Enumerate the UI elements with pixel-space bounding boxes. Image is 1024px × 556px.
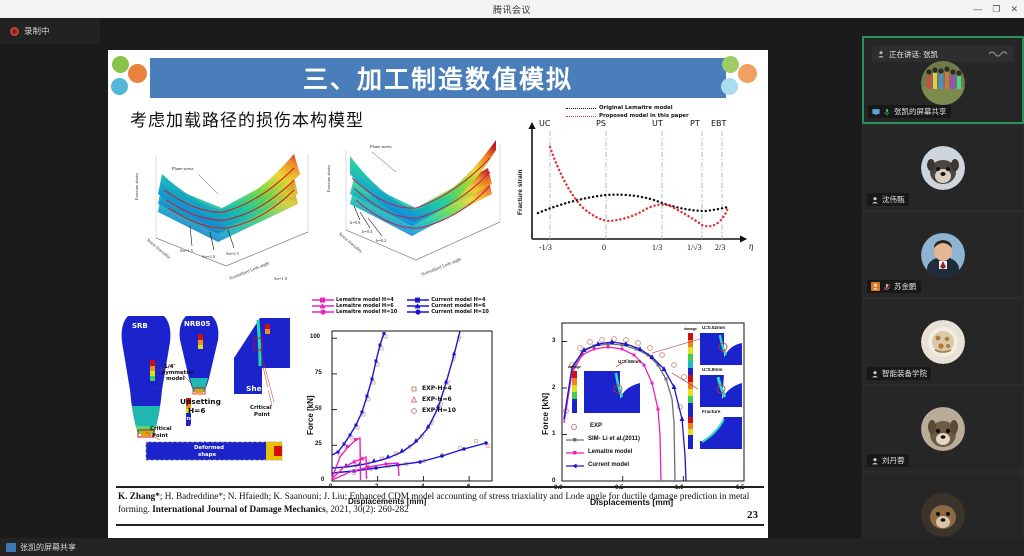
surface-mid-curve-label-2: h=0.4 xyxy=(362,229,372,234)
fea-label-upsetting: Upsetting xyxy=(180,397,221,406)
surface-left-curve-label-2: Sα=2.0 xyxy=(202,254,215,259)
citation-author: K. Zhang* xyxy=(118,491,160,501)
maximize-icon[interactable]: ❐ xyxy=(992,5,1000,14)
participant-name-1: 沈伟甄 xyxy=(882,194,905,205)
participant-name-3: 智能装备学院 xyxy=(882,368,927,379)
fdB-annot-damage-left: damage xyxy=(568,365,581,369)
surface-left-zlabel: Fracture strain xyxy=(134,173,139,200)
window-controls: — ❐ ✕ xyxy=(973,0,1018,18)
mute-badge-icon xyxy=(871,282,880,291)
participant-name-0: 张凯的屏幕共享 xyxy=(894,106,947,117)
slide-number: 23 xyxy=(747,509,758,521)
slide-subtitle: 考虑加载路径的损伤本构模型 xyxy=(130,106,364,131)
avatar xyxy=(921,233,965,277)
minimize-icon[interactable]: — xyxy=(973,5,982,14)
xtick-2-3: 2/3 xyxy=(715,243,725,252)
screen-share-icon xyxy=(6,543,16,552)
fdA-ytick-25: 25 xyxy=(315,441,322,447)
fdB-annot-u058: U=0.58mm xyxy=(618,359,641,364)
fdA-legend: Lemaitre model H=4 Lemaitre model H=6 Le… xyxy=(312,297,489,315)
recording-label: 录制中 xyxy=(24,25,50,37)
citation-rule-bottom xyxy=(116,524,764,526)
person-icon xyxy=(877,50,885,58)
fdB-legend-sim: SIM- Li et al.(2011) xyxy=(588,436,640,442)
person-icon xyxy=(871,457,879,465)
fdA-ylabel: Force [kN] xyxy=(306,395,315,435)
fdB-legend-exp: EXP xyxy=(590,423,602,429)
xtick--1-3: -1/3 xyxy=(539,243,552,252)
surface-mid-curve-label-3: h=0.2 xyxy=(376,238,386,243)
slide-header-title: 三、加工制造数值模拟 xyxy=(150,58,726,98)
fdB-legend-current: Current model xyxy=(588,462,629,468)
fea-label-shear: Shear xyxy=(246,384,270,393)
legend-label-original: Original Lemaitre model xyxy=(599,104,673,112)
window-title: 腾讯会议 xyxy=(493,3,531,16)
taskbar-item-label: 张凯的屏幕共享 xyxy=(20,542,76,553)
fracture-strain-legend: Original Lemaitre model Proposed model i… xyxy=(566,104,689,120)
fdA-legend-lemaitre-h10: Lemaitre model H=10 xyxy=(336,309,397,315)
participant-name-4: 刘丹蓉 xyxy=(882,455,905,466)
fdA-ytick-75: 75 xyxy=(315,370,322,376)
surface-plot-mid: Fracture strain Plane stress h=0.8 h=0.4… xyxy=(320,130,516,285)
participant-namebar-1: 沈伟甄 xyxy=(867,193,909,206)
citation-text: K. Zhang*; H. Badreddine*; N. Hfaiedh; K… xyxy=(118,490,762,516)
state-label-uc: UC xyxy=(539,119,550,128)
fdA-ytick-100: 100 xyxy=(310,334,320,340)
decor-circles-right xyxy=(720,56,766,102)
participant-namebar-0: 张凯的屏幕共享 xyxy=(868,105,951,118)
fdB-ytick-1: 1 xyxy=(552,430,555,437)
citation-tail: , 2021, 30(2): 260-282 xyxy=(326,504,409,514)
citation-rule xyxy=(116,486,764,488)
fea-label-srb: SRB xyxy=(132,322,148,330)
fdA-exp-h4: EXP-H=4 xyxy=(422,385,452,392)
participant-namebar-4: 刘丹蓉 xyxy=(867,454,909,467)
audio-wave-icon xyxy=(987,49,1009,59)
xaxis-eta-label: η xyxy=(749,241,753,251)
fdB-ytick-3: 3 xyxy=(552,337,555,344)
participant-rail[interactable]: 正在讲话: 张凯 xyxy=(862,36,1024,556)
speaking-banner: 正在讲话: 张凯 xyxy=(872,46,1014,62)
fea-label-critical-1: Critical xyxy=(150,426,172,432)
record-dot-icon xyxy=(10,27,19,36)
fea-montage: SRB NRB05 Upsetting H=6 Shear 1/4 symmet… xyxy=(110,302,292,464)
fdA-exp-h10: EXP-H=10 xyxy=(422,407,456,414)
legend-dash-original xyxy=(566,108,596,109)
participant-namebar-3: 智能装备学院 xyxy=(867,367,931,380)
fdB-ytick-2: 2 xyxy=(552,384,555,391)
legend-label-proposed: Proposed model in this paper xyxy=(599,112,689,120)
surface-left-corner-label: Sα=1.0 xyxy=(274,276,287,281)
fea-label-deformed-shape: shape xyxy=(198,452,216,458)
participant-card-3[interactable]: 智能装备学院 xyxy=(862,298,1024,385)
participant-name-2: 苏金鹏 xyxy=(894,281,917,292)
fdA-exp-h6: EXP-H=6 xyxy=(422,396,452,403)
fracture-strain-ylabel: Fracture strain xyxy=(517,169,524,215)
fdB-ylabel: Force [kN] xyxy=(540,393,550,435)
surface-mid-zlabel: Fracture strain xyxy=(326,165,331,192)
shared-screen-area[interactable]: 三、加工制造数值模拟 考虑加载路径的损伤本构模型 xyxy=(108,50,768,550)
fdB-annot-u052: U=0.52mm xyxy=(702,325,725,330)
decor-circles-left xyxy=(110,56,156,102)
surface-left-annotation: Plane stress xyxy=(172,166,194,171)
state-label-ps: PS xyxy=(596,119,606,128)
fea-label-undeformed-shape: shape xyxy=(190,423,208,429)
surface-mid-annotation: Plane stress xyxy=(370,144,392,149)
xtick-0: 0 xyxy=(602,243,606,252)
taskbar[interactable]: 张凯的屏幕共享 xyxy=(0,538,1024,556)
fdA-ytick-50: 50 xyxy=(315,406,322,412)
participant-card-1[interactable]: 沈伟甄 xyxy=(862,124,1024,211)
participant-card-4[interactable]: 刘丹蓉 xyxy=(862,385,1024,472)
avatar xyxy=(921,61,965,105)
fdB-ytick-0: 0 xyxy=(552,477,555,484)
screen-share-icon xyxy=(872,108,880,116)
fea-label-point-1: Point xyxy=(152,433,168,439)
taskbar-item-screenshare[interactable]: 张凯的屏幕共享 xyxy=(6,542,76,553)
legend-dash-proposed xyxy=(566,116,596,117)
avatar xyxy=(921,320,965,364)
fdB-annot-damage-right: damage xyxy=(684,327,697,331)
surface-left-curve-label-1: Sα=1.5 xyxy=(180,248,193,253)
fdA-legend-current-h10: Current model H=10 xyxy=(431,309,489,315)
avatar xyxy=(921,146,965,190)
participant-card-2[interactable]: 苏金鹏 xyxy=(862,211,1024,298)
fdB-annot-u08: U=0.8mm xyxy=(702,367,723,372)
participant-namebar-2: 苏金鹏 xyxy=(867,280,921,293)
person-icon xyxy=(871,196,879,204)
citation-journal: International Journal of Damage Mechanic… xyxy=(152,504,326,514)
fea-label-point-2: Point xyxy=(254,412,270,418)
fea-label-critical-2: Critical xyxy=(250,405,272,411)
fea-label-model: model xyxy=(166,376,185,382)
fdB-legend-lemaitre: Lemaitre model xyxy=(588,449,632,455)
state-label-pt: PT xyxy=(690,119,700,128)
fea-label-deformed: Deformed xyxy=(194,445,224,451)
avatar xyxy=(921,493,965,537)
state-label-ebt: EBT xyxy=(711,119,726,128)
avatar xyxy=(921,407,965,451)
surface-left-curve-label-3: Sα=2.5 xyxy=(226,251,239,256)
close-icon[interactable]: ✕ xyxy=(1010,5,1018,14)
xtick-1-3: 1/3 xyxy=(652,243,662,252)
microphone-icon xyxy=(883,108,891,116)
participant-card-0[interactable]: 正在讲话: 张凯 xyxy=(862,36,1024,124)
fdA-ytick-0: 0 xyxy=(321,477,324,483)
microphone-muted-icon xyxy=(883,283,891,291)
xtick-1-sqrt3: 1/√3 xyxy=(687,243,702,252)
fea-label-undeformed: Undeformed xyxy=(182,416,220,422)
speaking-label: 正在讲话: 张凯 xyxy=(889,49,938,60)
state-label-ut: UT xyxy=(652,119,663,128)
meeting-workarea: 录制中 三、加工制造数值模拟 考虑加载路径的损伤本构模型 xyxy=(0,18,1024,538)
tencent-meeting-window: 腾讯会议 — ❐ ✕ 录制中 三、加工制造数值模拟 xyxy=(0,0,1024,556)
surface-plot-left: Fracture strain Plane stress Sα=1.5 Sα=2… xyxy=(122,134,318,286)
window-titlebar: 腾讯会议 — ❐ ✕ xyxy=(0,0,1024,18)
surface-mid-curve-label-1: h=0.8 xyxy=(350,220,360,225)
person-icon xyxy=(871,370,879,378)
fea-label-nrb05: NRB05 xyxy=(184,320,210,328)
recording-indicator[interactable]: 录制中 xyxy=(0,18,100,44)
fdB-annot-fracture: Fracture xyxy=(702,409,720,414)
fea-label-h6: H=6 xyxy=(188,406,206,415)
presentation-slide: 三、加工制造数值模拟 考虑加载路径的损伤本构模型 xyxy=(108,50,768,550)
fracture-strain-chart: Original Lemaitre model Proposed model i… xyxy=(506,103,764,275)
